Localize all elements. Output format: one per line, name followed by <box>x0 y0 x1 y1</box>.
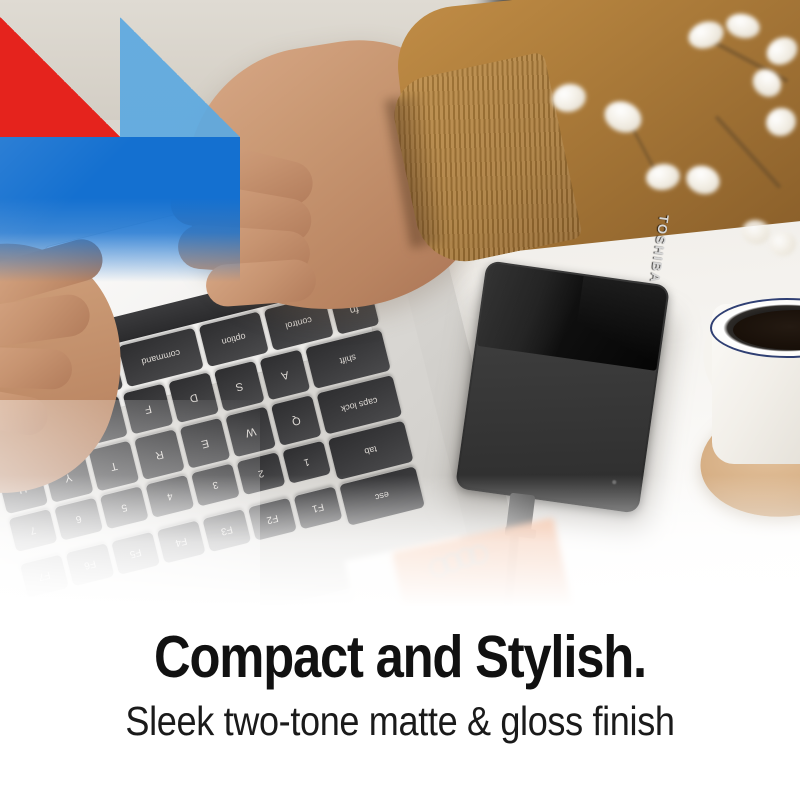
product-image-canvas: N B V C X Z command option control fn J … <box>0 0 800 800</box>
left-finger <box>0 346 73 390</box>
caption-block: Compact and Stylish. Sleek two-tone matt… <box>0 624 800 746</box>
photo-bottom-fade <box>0 475 800 625</box>
headline: Compact and Stylish. <box>56 624 744 690</box>
subheadline: Sleek two-tone matte & gloss finish <box>48 696 752 746</box>
key-a: A <box>259 349 310 400</box>
key-q: Q <box>271 395 322 446</box>
right-finger <box>205 258 318 308</box>
product-photo: N B V C X Z command option control fn J … <box>0 0 800 625</box>
